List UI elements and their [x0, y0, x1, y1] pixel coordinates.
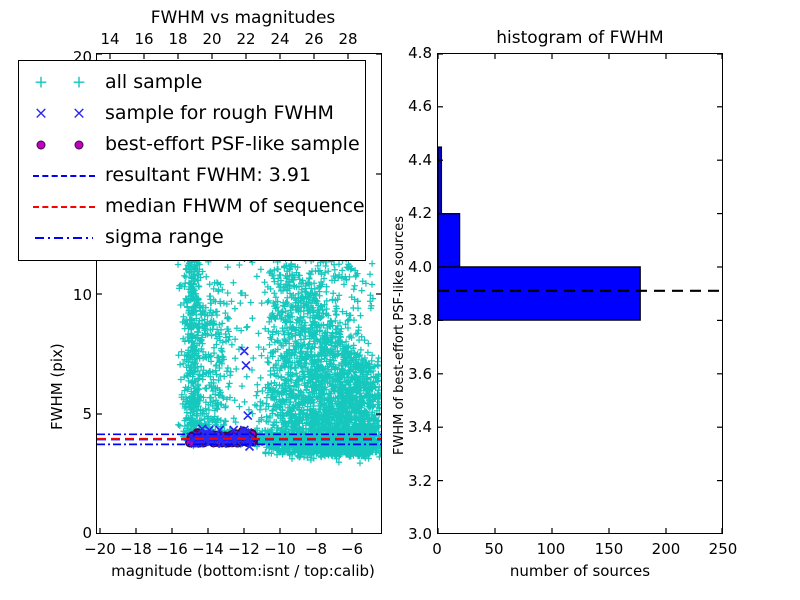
legend-marker-dashed-red-icon [27, 194, 101, 220]
legend-entry-sigma-range: sigma range [27, 222, 357, 253]
top-tick-20: 20 [202, 30, 221, 48]
top-tick-26: 26 [304, 30, 323, 48]
legend-marker-dot-icon [27, 132, 101, 158]
top-tick-24: 24 [270, 30, 289, 48]
y-tick-5: 5 [62, 405, 92, 423]
legend-label-median-fwhm: median FHWM of sequence [101, 197, 365, 216]
left-panel-ylabel: FWHM (pix) [48, 343, 66, 430]
hist-y-tick-3-2: 3.2 [396, 472, 432, 490]
bottom-tick-m6: −6 [341, 540, 363, 558]
legend-marker-plus-icon: + + [27, 70, 101, 96]
hist-x-tick-0: 0 [432, 540, 442, 558]
hist-y-tick-4-6: 4.6 [396, 97, 432, 115]
bottom-tick-m16: −16 [156, 540, 188, 558]
hist-x-tick-50: 50 [484, 540, 503, 558]
hist-y-tick-3-8: 3.8 [396, 311, 432, 329]
top-tick-18: 18 [168, 30, 187, 48]
hist-x-tick-250: 250 [709, 540, 738, 558]
hist-y-tick-4-0: 4.0 [396, 258, 432, 276]
left-panel-xlabel: magnitude (bottom:isnt / top:calib) [93, 562, 393, 580]
histogram-svg [438, 54, 722, 533]
top-tick-16: 16 [134, 30, 153, 48]
hist-y-tick-3-4: 3.4 [396, 418, 432, 436]
legend-label-sigma-range: sigma range [101, 228, 224, 247]
legend-entry-median-fwhm: median FHWM of sequence [27, 191, 357, 222]
bottom-tick-m20: −20 [84, 540, 116, 558]
legend-label-psf-like: best-effort PSF-like sample [101, 135, 360, 154]
bottom-tick-m8: −8 [305, 540, 327, 558]
left-panel-title: FWHM vs magnitudes [103, 8, 383, 28]
hist-y-tick-4-2: 4.2 [396, 204, 432, 222]
bottom-tick-m18: −18 [120, 540, 152, 558]
hist-x-tick-100: 100 [537, 540, 566, 558]
hist-y-tick-4-8: 4.8 [396, 44, 432, 62]
right-panel-title: histogram of FWHM [437, 28, 723, 48]
legend-label-rough-fwhm: sample for rough FWHM [101, 104, 334, 123]
hist-y-tick-3-0: 3.0 [396, 525, 432, 543]
hist-plot-area [437, 53, 723, 534]
bottom-tick-m12: −12 [228, 540, 260, 558]
legend-label-all-sample: all sample [101, 73, 202, 92]
legend-entry-all-sample: + + all sample [27, 67, 357, 98]
hist-x-tick-200: 200 [652, 540, 681, 558]
top-tick-14: 14 [100, 30, 119, 48]
legend-entry-rough-fwhm: × × sample for rough FWHM [27, 98, 357, 129]
legend-marker-dashed-blue-icon [27, 163, 101, 189]
top-tick-22: 22 [236, 30, 255, 48]
y-tick-10: 10 [62, 286, 92, 304]
bottom-tick-m14: −14 [192, 540, 224, 558]
legend-marker-cross-icon: × × [27, 101, 101, 127]
legend-entry-resultant-fwhm: resultant FWHM: 3.91 [27, 160, 357, 191]
hist-x-tick-150: 150 [595, 540, 624, 558]
legend: + + all sample × × sample for rough FWHM… [18, 60, 366, 261]
legend-marker-dashdot-icon [27, 225, 101, 251]
top-tick-28: 28 [338, 30, 357, 48]
hist-y-tick-3-6: 3.6 [396, 365, 432, 383]
legend-label-resultant-fwhm: resultant FWHM: 3.91 [101, 166, 311, 185]
bottom-tick-m10: −10 [264, 540, 296, 558]
right-panel-xlabel: number of sources [437, 562, 723, 580]
hist-y-tick-4-4: 4.4 [396, 151, 432, 169]
figure-canvas: FWHM vs magnitudes 14 16 18 20 22 24 26 … [0, 0, 800, 600]
y-tick-0: 0 [62, 524, 92, 542]
legend-entry-psf-like: best-effort PSF-like sample [27, 129, 357, 160]
